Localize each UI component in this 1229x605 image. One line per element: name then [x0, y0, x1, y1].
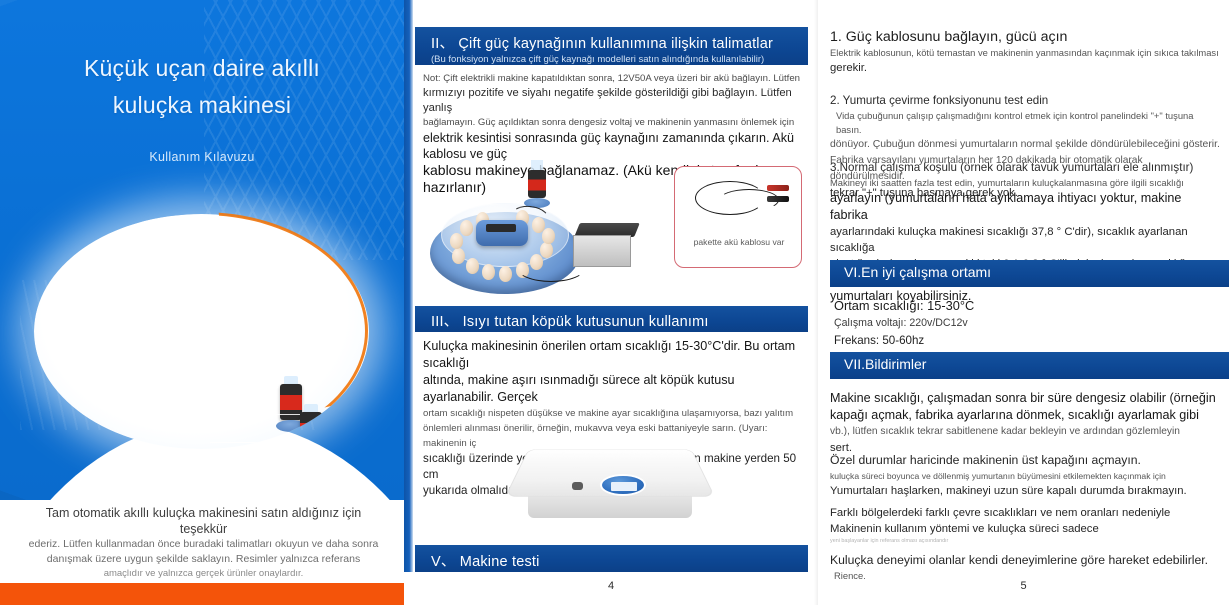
section-header-3: III、 Isıyı tutan köpük kutusunun kullanı… [415, 306, 808, 332]
orange-footer-bar [0, 583, 404, 605]
operating-environment-specs: Ortam sıcaklığı: 15-30°C Çalışma voltajı… [834, 296, 1214, 349]
section-header-6: VI.En iyi çalışma ortamı [830, 260, 1229, 287]
manual-page-4: II、 Çift güç kaynağının kullanımına iliş… [404, 0, 818, 605]
cover-thanks-block: Tam otomatik akıllı kuluçka makinesini s… [26, 505, 381, 581]
section-3-title: III、 Isıyı tutan köpük kutusunun kullanı… [431, 310, 808, 331]
step-2-line-2: dönüyor. Çubuğun dönmesi yumurtaların no… [830, 137, 1220, 153]
black-clamp-icon [767, 196, 789, 202]
water-bottle [526, 160, 548, 210]
page-number-left: 4 [404, 580, 818, 592]
bottle-body [528, 170, 546, 198]
step-3-line-2: ayarlayın (yumurtaların hata ayıklamaya … [830, 190, 1220, 224]
section-2-line-1: Not: Çift elektrikli makine kapatıldıkta… [423, 72, 803, 86]
egg [499, 266, 512, 282]
step-2-heading: 2. Yumurta çevirme fonksiyonunu test edi… [830, 93, 1220, 109]
egg [542, 228, 555, 244]
led-display [486, 224, 516, 232]
cable-box-caption: pakette akü kablosu var [675, 237, 803, 247]
section-5-title: V、 Makine testi [431, 550, 808, 571]
notice-2-line-3: Yumurtaları haşlarken, makineyi uzun sür… [830, 483, 1220, 499]
egg [466, 258, 479, 274]
page-spine [404, 0, 413, 572]
notice-1-line-1: Makine sıcaklığı, çalışmadan sonra bir s… [830, 390, 1220, 407]
notice-2-block: Özel durumlar haricinde makinenin üst ka… [830, 452, 1220, 499]
section-2-subtitle: (Bu fonksiyon yalnızca çift güç kaynağı … [431, 54, 808, 65]
section-3-line-1: Kuluçka makinesinin önerilen ortam sıcak… [423, 338, 807, 372]
thanks-line-2: ederiz. Lütfen kullanmadan önce buradaki… [26, 537, 381, 552]
step-2-line-1: Vida çubuğunun çalışıp çalışmadığını kon… [830, 109, 1220, 137]
red-clamp-icon [767, 185, 789, 191]
step-1-heading: 1. Güç kablosunu bağlayın, gücü açın [830, 28, 1220, 46]
page-number-right: 5 [818, 580, 1229, 592]
cover-page: Küçük uçan daire akıllı kuluçka makinesi… [0, 0, 404, 605]
spec-frequency: Frekans: 50-60hz [834, 332, 1214, 349]
foam-box-knob [572, 482, 583, 490]
manual-scan-page: Küçük uçan daire akıllı kuluçka makinesi… [0, 0, 1229, 605]
egg [460, 220, 473, 236]
wire [516, 252, 586, 282]
section-6-title: VI.En iyi çalışma ortamı [844, 264, 991, 280]
spec-ambient-temperature: Ortam sıcaklığı: 15-30°C [834, 296, 1214, 315]
thanks-line-3: danışmak üzere uygun şekilde saklayın. R… [26, 552, 381, 567]
egg [450, 233, 463, 249]
section-header-2: II、 Çift güç kaynağının kullanımına iliş… [415, 27, 808, 65]
egg [452, 248, 465, 264]
step-3-line-3: ayarlarındaki kuluçka makinesi sıcaklığı… [830, 224, 1220, 256]
bottle-stand [296, 448, 326, 449]
cover-title: Küçük uçan daire akıllı kuluçka makinesi [0, 50, 404, 124]
step-1-line-2: gerekir. [830, 60, 1220, 76]
step-1-line-1: Elektrik kablosunun, kötü temastan ve ma… [830, 46, 1220, 60]
notice-1-line-2: kapağı açmak, fabrika ayarlarına dönmek,… [830, 407, 1220, 424]
battery-connection-figure [430, 160, 660, 300]
bottle-body [300, 412, 322, 448]
foam-box-photo [500, 430, 720, 538]
notice-1-line-3: vb.), lütfen sıcaklık tekrar sabitlenene… [830, 424, 1220, 440]
notice-2-line-1: Özel durumlar haricinde makinenin üst ka… [830, 452, 1220, 469]
battery [577, 223, 637, 269]
spec-operating-voltage: Çalışma voltajı: 220v/DC12v [834, 315, 1214, 332]
battery-cable-callout-box: pakette akü kablosu var [674, 166, 802, 268]
foam-box-display [600, 474, 646, 496]
section-2-title: II、 Çift güç kaynağının kullanımına iliş… [431, 32, 808, 53]
cover-subtitle: Kullanım Kılavuzu [0, 150, 404, 164]
notice-1-block: Makine sıcaklığı, çalışmadan sonra bir s… [830, 390, 1220, 456]
step-3-line-1: Makineyi iki saatten fazla test edin, yu… [830, 176, 1220, 190]
step-3-heading: 3.Normal çalışma koşulu (örnek olarak ta… [830, 160, 1220, 176]
egg [482, 264, 495, 280]
thanks-line-4: amaçlıdır ve yalnızca gerçek ürünler ona… [26, 567, 381, 581]
notice-3-line-3: yeni başlayanlar için referans olması aç… [830, 537, 1220, 546]
section-3-line-3: ortam sıcaklığı nispeten düşükse ve maki… [423, 406, 807, 421]
notice-4-line-1: Kuluçka deneyimi olanlar kendi deneyimle… [830, 552, 1220, 569]
callout-line [210, 442, 302, 443]
section-header-5: V、 Makine testi [415, 545, 808, 572]
section-2-line-3: bağlamayın. Güç açıldıktan sonra dengesi… [423, 116, 803, 130]
cover-title-line-2: kuluçka makinesi [0, 87, 404, 124]
section-2-line-2: kırmızıyı pozitife ve siyahı negatife şe… [423, 86, 803, 116]
section-3-line-2: altında, makine aşırı ısınmadığı sürece … [423, 372, 807, 406]
step-1-block: 1. Güç kablosunu bağlayın, gücü açın Ele… [830, 28, 1220, 76]
manual-page-5: 1. Güç kablosunu bağlayın, gücü açın Ele… [818, 0, 1229, 605]
section-7-title: VII.Bildirimler [844, 356, 926, 372]
notice-3-line-1: Farklı bölgelerdeki farklı çevre sıcaklı… [830, 505, 1220, 521]
notice-4-block: Kuluçka deneyimi olanlar kendi deneyimle… [830, 552, 1220, 583]
section-header-7: VII.Bildirimler [830, 352, 1229, 379]
notice-3-line-2: Makinenin kullanım yöntemi ve kuluçka sü… [830, 521, 1220, 537]
notice-3-block: Farklı bölgelerdeki farklı çevre sıcaklı… [830, 505, 1220, 546]
thanks-line-1: Tam otomatik akıllı kuluçka makinesini s… [26, 505, 381, 537]
section-2-line-4: elektrik kesintisi sonrasında güç kaynağ… [423, 130, 803, 162]
cover-title-line-1: Küçük uçan daire akıllı [0, 50, 404, 87]
notice-2-line-2: kuluçka süreci boyunca ve döllenmiş yumu… [830, 469, 1220, 483]
